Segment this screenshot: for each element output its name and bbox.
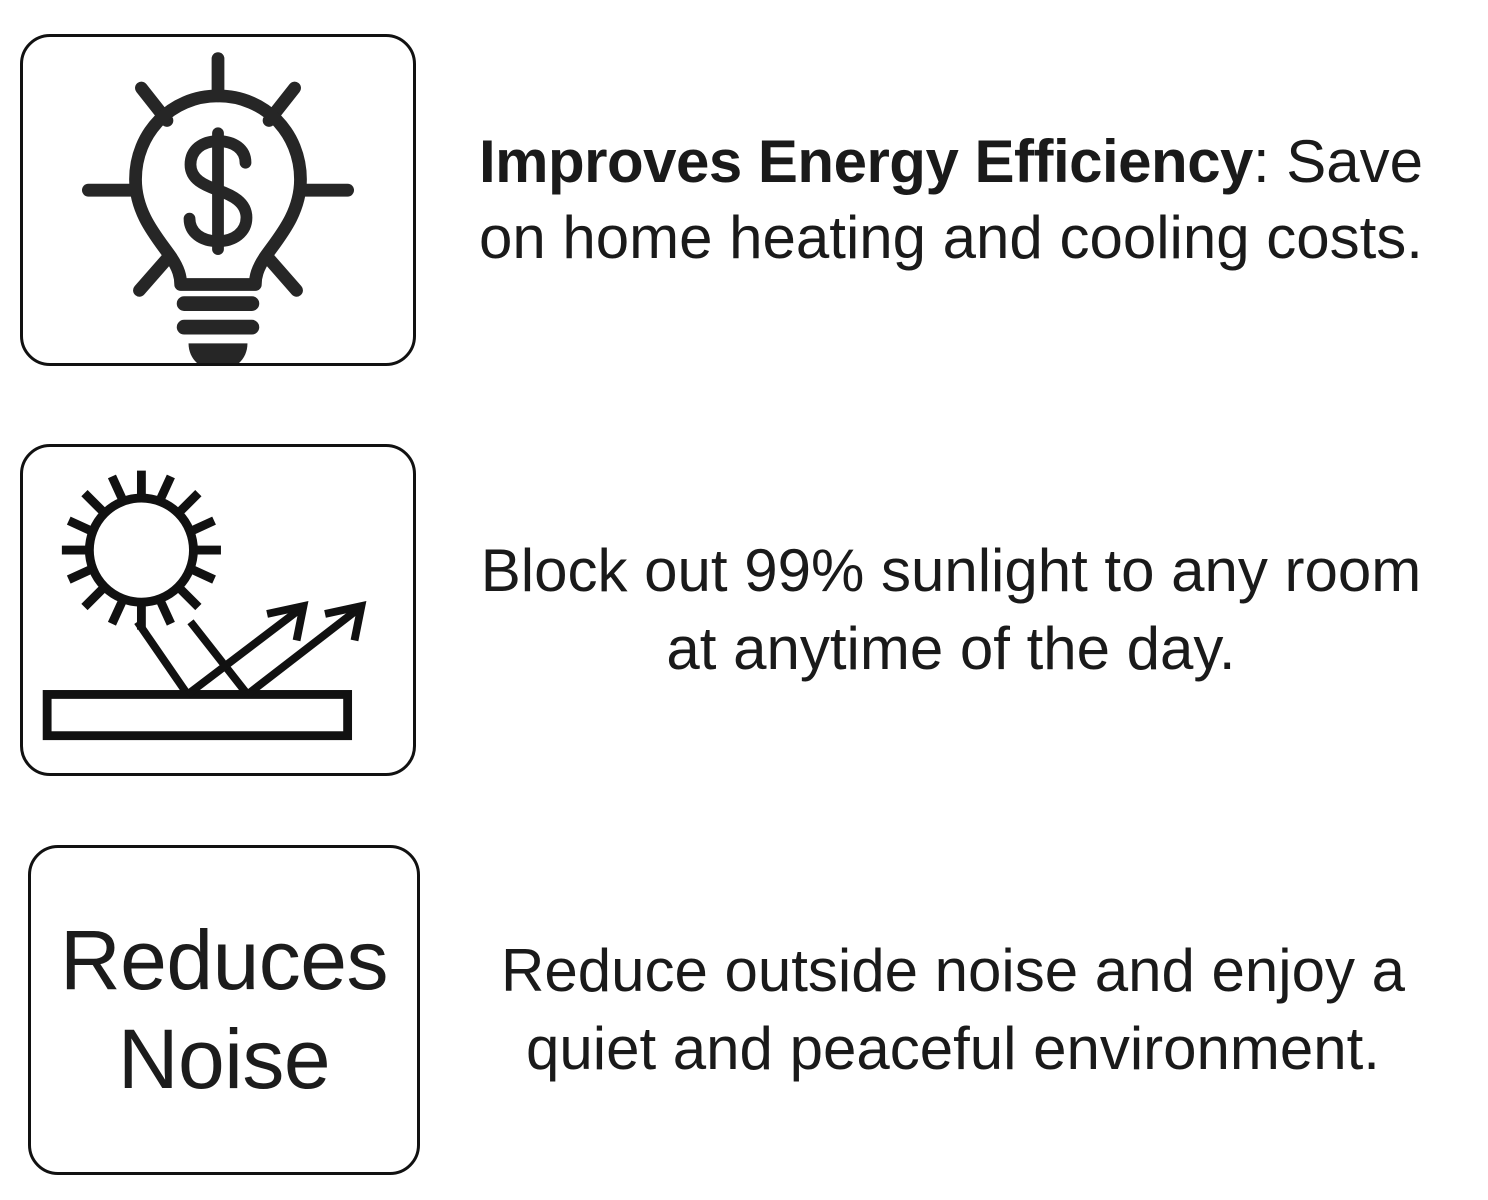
feature-row-blocks-sunlight: Block out 99% sunlight to any room at an… xyxy=(0,400,1488,820)
feature-text-energy-efficiency: Improves Energy Efficiency: Save on home… xyxy=(416,124,1488,275)
icon-card-reduces-noise: Reduces Noise xyxy=(28,845,420,1175)
feature-text-blocks-sunlight: Block out 99% sunlight to any room at an… xyxy=(416,532,1488,688)
feature-lead-colon: : xyxy=(1253,128,1270,195)
feature-row-reduces-noise: Reduces Noise Reduce outside noise and e… xyxy=(0,820,1488,1200)
icon-card-blocks-sunlight xyxy=(20,444,416,776)
feature-body-reduces-noise: Reduce outside noise and enjoy a quiet a… xyxy=(501,937,1405,1082)
lightbulb-dollar-icon xyxy=(23,37,413,363)
feature-body-blocks-sunlight: Block out 99% sunlight to any room at an… xyxy=(481,537,1422,682)
reduces-noise-line-2: Noise xyxy=(118,1010,330,1109)
feature-row-energy-efficiency: Improves Energy Efficiency: Save on home… xyxy=(0,0,1488,400)
feature-text-reduces-noise: Reduce outside noise and enjoy a quiet a… xyxy=(420,932,1488,1088)
icon-card-energy-efficiency xyxy=(20,34,416,366)
feature-list-page: Improves Energy Efficiency: Save on home… xyxy=(0,0,1488,1200)
feature-lead-energy-efficiency: Improves Energy Efficiency xyxy=(479,128,1253,195)
sun-reflection-icon xyxy=(23,447,413,773)
reduces-noise-badge-text: Reduces Noise xyxy=(31,848,417,1172)
reduces-noise-line-1: Reduces xyxy=(60,911,388,1010)
